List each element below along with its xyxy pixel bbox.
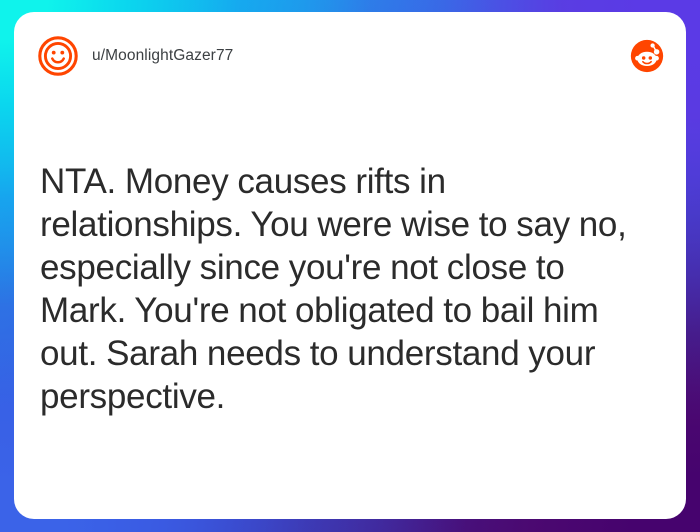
comment-body-text: NTA. Money causes rifts in relationships… bbox=[40, 160, 654, 418]
card-header: u/MoonlightGazer77 bbox=[14, 12, 686, 100]
gradient-background: u/MoonlightGazer77 NTA. Money causes rif… bbox=[0, 0, 700, 532]
username-label: u/MoonlightGazer77 bbox=[92, 47, 233, 65]
reddit-comment-card: u/MoonlightGazer77 NTA. Money causes rif… bbox=[14, 12, 686, 519]
reddit-snoo-icon[interactable] bbox=[630, 39, 664, 73]
smiley-face-avatar-icon[interactable] bbox=[38, 36, 78, 76]
